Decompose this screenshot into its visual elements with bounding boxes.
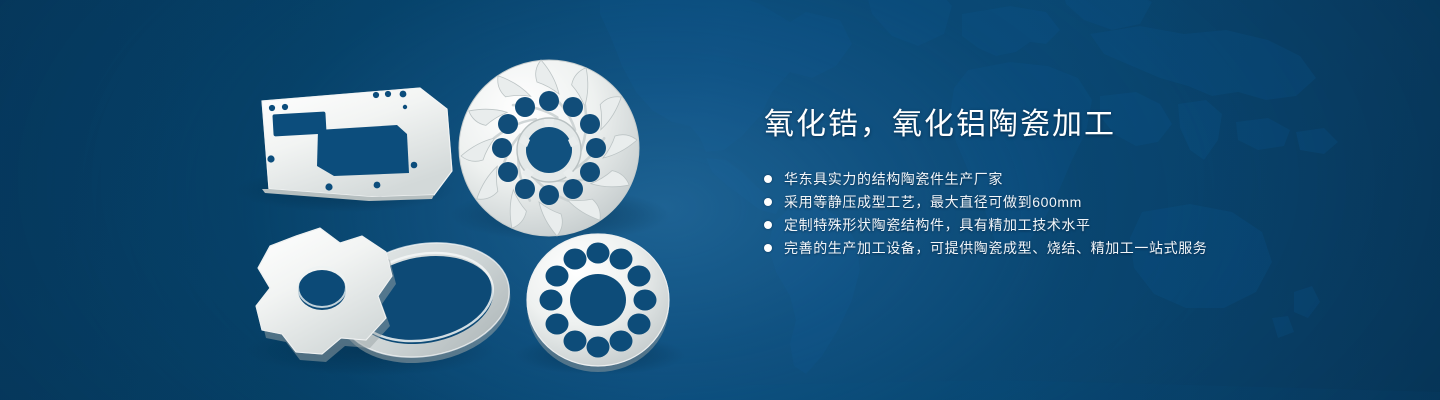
list-item: 定制特殊形状陶瓷结构件，具有精加工技术水平 [764,214,1404,236]
bullet-dot-icon [764,198,772,206]
list-item-label: 完善的生产加工设备，可提供陶瓷成型、烧结、精加工一站式服务 [784,237,1207,259]
bullet-dot-icon [764,175,772,183]
bullet-dot-icon [764,221,772,229]
ceramic-perforated-disc [527,234,669,372]
feature-list: 华东具实力的结构陶瓷件生产厂家 采用等静压成型工艺，最大直径可做到600mm 定… [764,168,1404,259]
list-item-label: 华东具实力的结构陶瓷件生产厂家 [784,168,1003,190]
bullet-dot-icon [764,244,772,252]
ceramic-machined-plate [262,88,452,201]
promo-banner: 氧化锆，氧化铝陶瓷加工 华东具实力的结构陶瓷件生产厂家 采用等静压成型工艺，最大… [0,0,1440,400]
banner-copy: 氧化锆，氧化铝陶瓷加工 华东具实力的结构陶瓷件生产厂家 采用等静压成型工艺，最大… [764,104,1404,260]
list-item: 华东具实力的结构陶瓷件生产厂家 [764,168,1404,190]
list-item-label: 定制特殊形状陶瓷结构件，具有精加工技术水平 [784,214,1091,236]
list-item-label: 采用等静压成型工艺，最大直径可做到600mm [784,191,1082,213]
ceramic-impeller [459,60,639,236]
page-title: 氧化锆，氧化铝陶瓷加工 [764,104,1404,146]
ceramic-products-image [0,0,740,400]
list-item: 完善的生产加工设备，可提供陶瓷成型、烧结、精加工一站式服务 [764,237,1404,259]
list-item: 采用等静压成型工艺，最大直径可做到600mm [764,191,1404,213]
